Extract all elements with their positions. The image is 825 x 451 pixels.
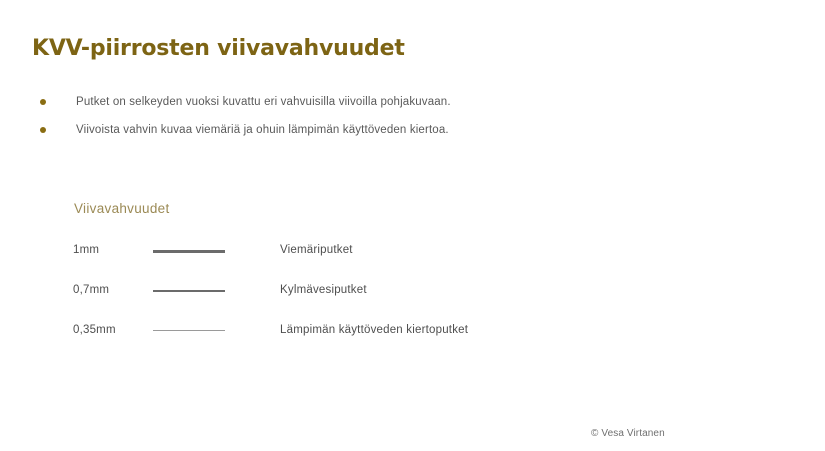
line-swatch	[153, 330, 225, 331]
legend-weight-value: 1mm	[73, 244, 143, 256]
line-swatch	[153, 290, 225, 292]
legend-weight-value: 0,7mm	[73, 284, 143, 296]
table-row: 1mm Viemäriputket	[73, 240, 633, 280]
bullet-list: Putket on selkeyden vuoksi kuvattu eri v…	[36, 88, 736, 144]
legend-table: 1mm Viemäriputket 0,7mm Kylmävesiputket …	[73, 240, 633, 360]
page-title: KVV-piirrosten viivavahvuudet	[32, 36, 405, 61]
legend-description: Viemäriputket	[280, 244, 353, 256]
line-sample-thick	[153, 250, 225, 254]
legend-description: Lämpimän käyttöveden kiertoputket	[280, 324, 468, 336]
legend-weight-value: 0,35mm	[73, 324, 143, 336]
table-row: 0,35mm Lämpimän käyttöveden kiertoputket	[73, 320, 633, 360]
legend-description: Kylmävesiputket	[280, 284, 367, 296]
slide-canvas: KVV-piirrosten viivavahvuudet Putket on …	[0, 0, 825, 451]
bullet-dot-icon	[40, 99, 46, 105]
list-item: Putket on selkeyden vuoksi kuvattu eri v…	[36, 88, 736, 116]
footer-credit: © Vesa Virtanen	[591, 428, 665, 439]
list-item: Viivoista vahvin kuvaa viemäriä ja ohuin…	[36, 116, 736, 144]
legend-heading: Viivavahvuudet	[74, 201, 170, 216]
bullet-text: Putket on selkeyden vuoksi kuvattu eri v…	[76, 96, 451, 108]
line-sample-thin	[153, 330, 225, 334]
line-sample-medium	[153, 290, 225, 294]
bullet-text: Viivoista vahvin kuvaa viemäriä ja ohuin…	[76, 124, 449, 136]
table-row: 0,7mm Kylmävesiputket	[73, 280, 633, 320]
bullet-dot-icon	[40, 127, 46, 133]
line-swatch	[153, 250, 225, 253]
